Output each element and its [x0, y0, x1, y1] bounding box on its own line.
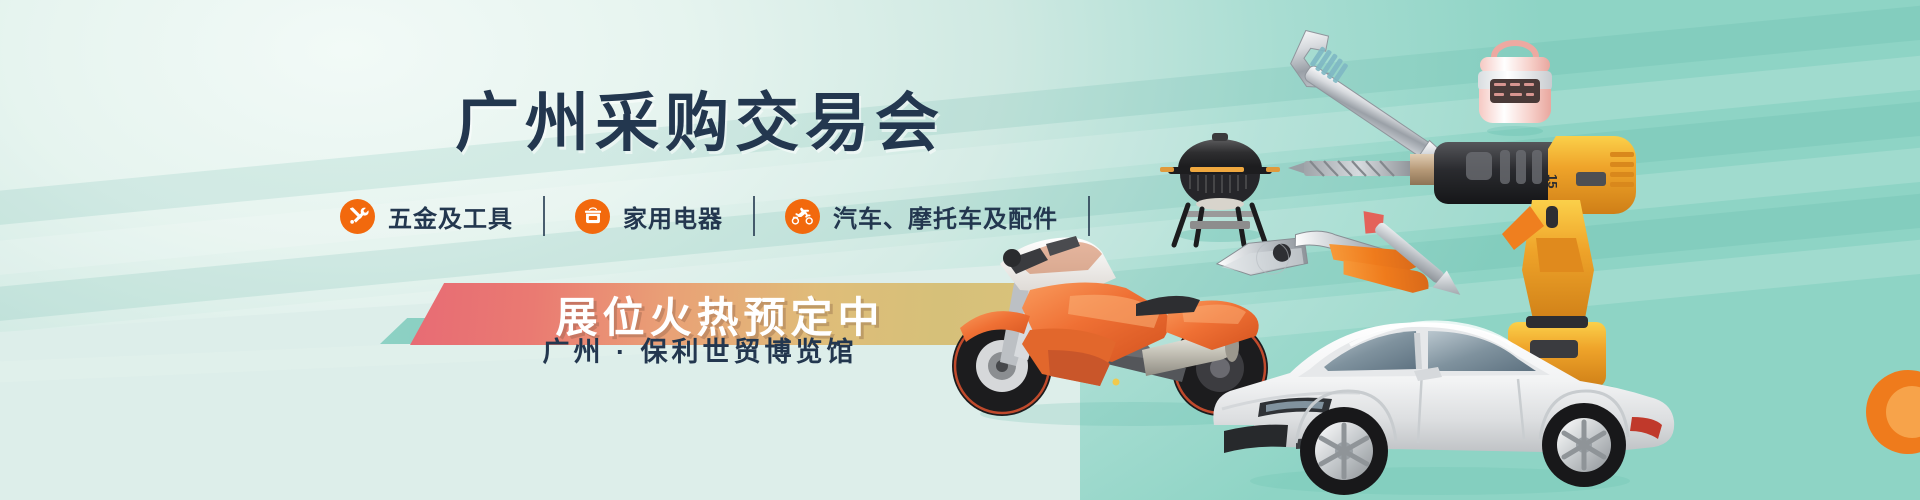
category-item-auto-moto-parts[interactable]: 汽车、摩托车及配件 [755, 199, 1088, 234]
category-divider [1088, 196, 1090, 236]
category-item-hardware-tools[interactable]: 五金及工具 [310, 199, 543, 234]
white-car-image [1200, 275, 1680, 500]
svg-text:15: 15 [1545, 174, 1560, 188]
category-divider [753, 196, 755, 236]
venue-text: 广州 · 保利世贸博览馆 [0, 330, 1400, 369]
category-label: 五金及工具 [388, 199, 513, 234]
banner-title: 广州采购交易会 [0, 72, 1400, 164]
category-label: 汽车、摩托车及配件 [833, 199, 1058, 234]
orange-tool-partial-image [1848, 360, 1920, 470]
rice-cooker-image [1460, 35, 1570, 145]
category-label: 家用电器 [623, 199, 723, 234]
category-item-home-appliances[interactable]: 家用电器 [545, 199, 753, 234]
category-list: 五金及工具 家用电器 [0, 196, 1400, 236]
rice-cooker-icon [575, 199, 610, 234]
motorcycle-icon [785, 199, 820, 234]
tools-icon [340, 199, 375, 234]
category-divider [543, 196, 545, 236]
promo-banner[interactable]: 广州采购交易会 五金及工具 [0, 0, 1920, 500]
